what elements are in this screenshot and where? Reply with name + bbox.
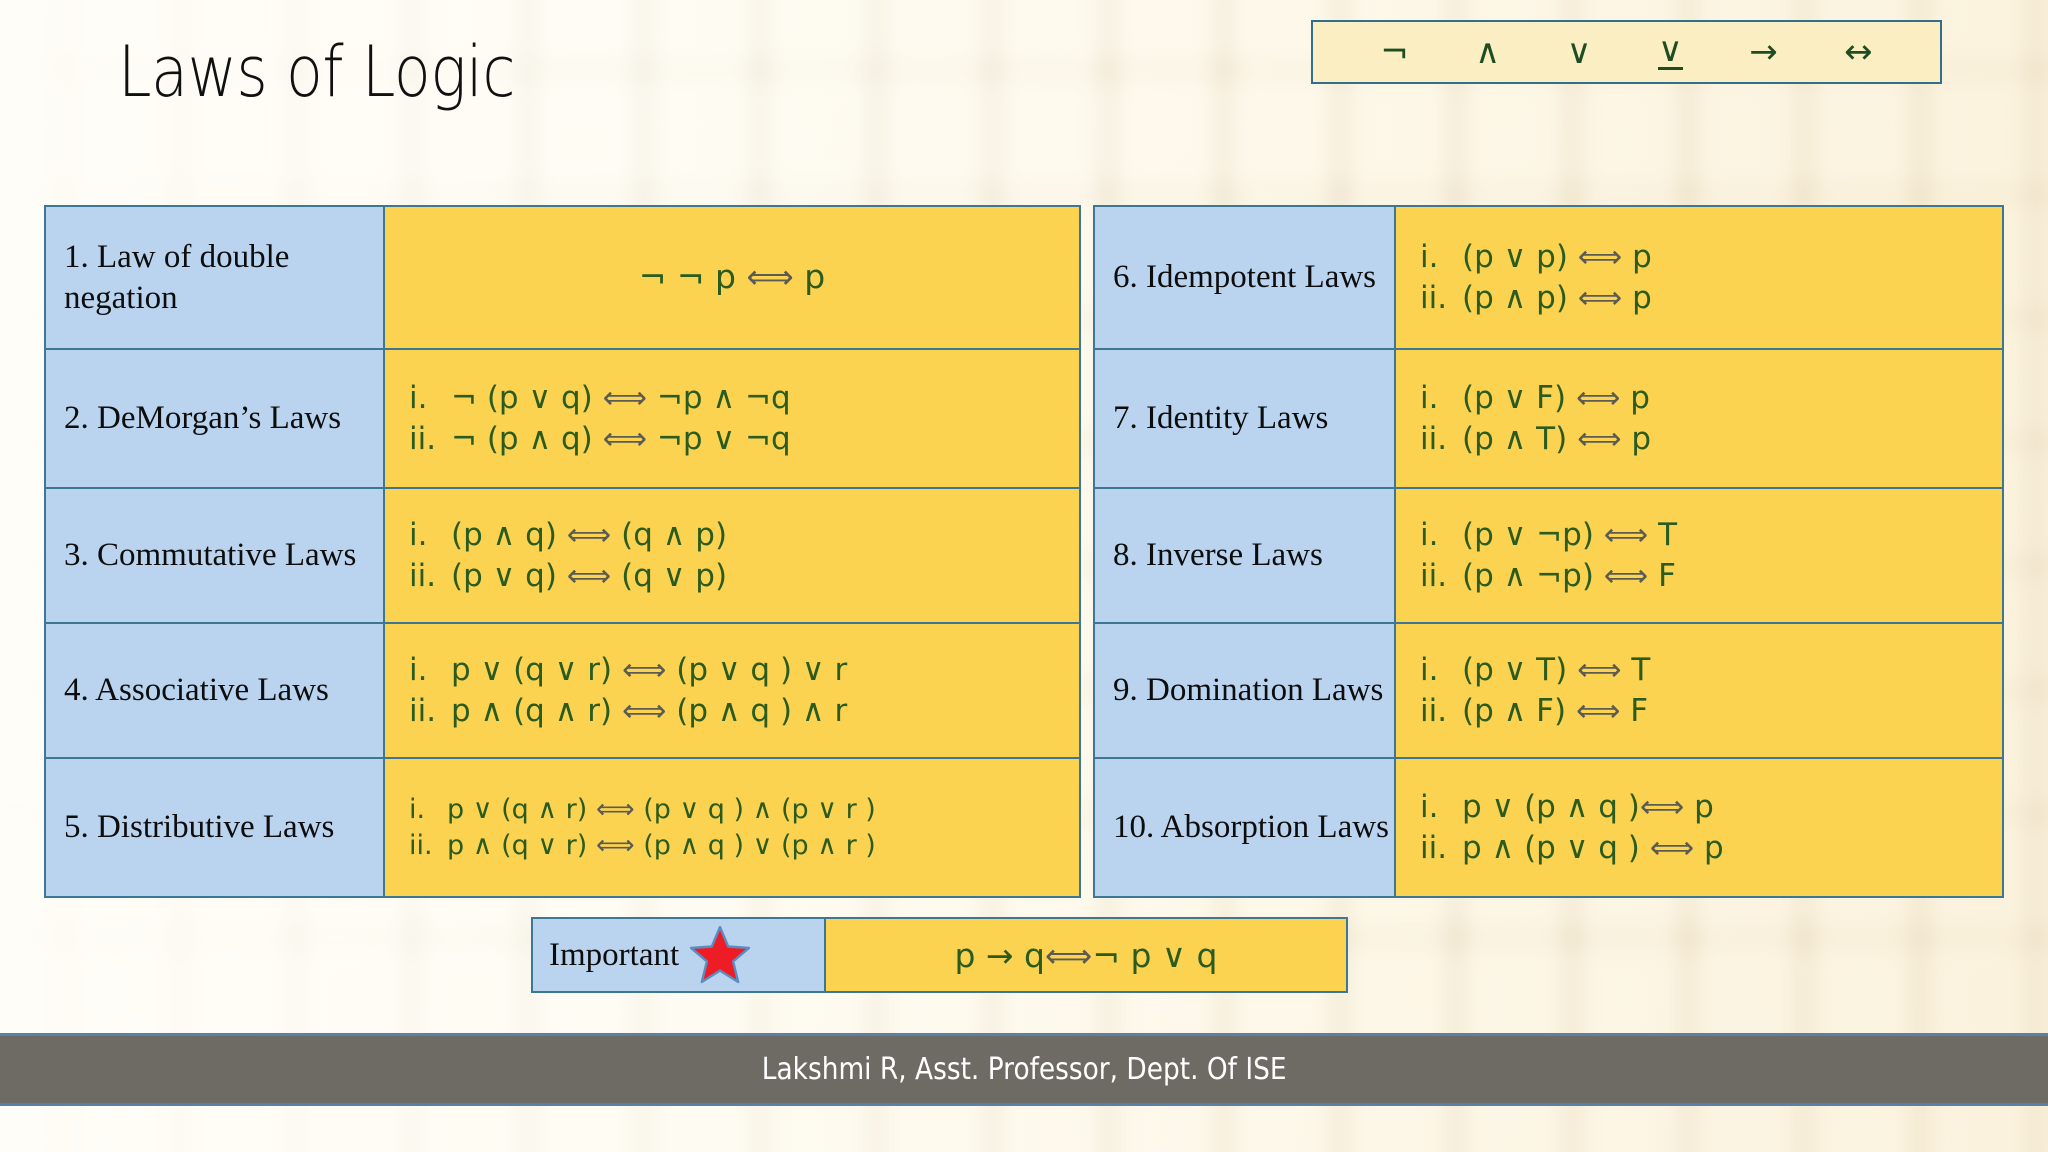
law-name-cell: 4. Associative Laws (46, 624, 385, 757)
important-label-cell: Important (533, 919, 826, 991)
formula-expression: p ∨ (q ∧ r) ⟺ (p ∨ q ) ∧ (p ∨ r ) (447, 792, 876, 827)
formula-line: ii.(p ∧ ¬p) ⟺ F (1420, 556, 2002, 596)
table-row: 4. Associative Lawsi.p ∨ (q ∨ r) ⟺ (p ∨ … (46, 622, 1079, 757)
formula-expression: (p ∧ F) ⟺ F (1462, 691, 1648, 731)
table-row: 7. Identity Lawsi.(p ∨ F) ⟺ pii.(p ∧ T) … (1095, 348, 2002, 487)
equivalence-icon: ⟺ (746, 257, 793, 296)
formula-index: ii. (409, 419, 451, 459)
law-name-cell: 9. Domination Laws (1095, 624, 1396, 757)
formula-line: ii.p ∧ (p ∨ q ) ⟺ p (1420, 828, 2002, 868)
formula-index: ii. (409, 691, 451, 731)
formula-expression: (p ∧ T) ⟺ p (1462, 419, 1651, 459)
slide-canvas: Laws of Logic ¬∧∨∨→↔ 1. Law of double ne… (0, 0, 2048, 1152)
formula-line: ¬ ¬ p ⟺ p (639, 256, 825, 299)
formula-line: ii.(p ∧ F) ⟺ F (1420, 691, 2002, 731)
star-icon (689, 925, 751, 985)
formula-expression: (p ∨ p) ⟺ p (1462, 237, 1652, 277)
formula-expression: (p ∨ T) ⟺ T (1462, 650, 1650, 690)
formula-index: i. (409, 515, 451, 555)
equivalence-icon: ⟺ (1650, 830, 1694, 866)
law-formula-cell: i.(p ∨ F) ⟺ pii.(p ∧ T) ⟺ p (1396, 350, 2002, 487)
formula-line: ii.p ∧ (q ∨ r) ⟺ (p ∧ q ) ∨ (p ∧ r ) (409, 828, 1079, 863)
law-name-cell: 6. Idempotent Laws (1095, 207, 1396, 348)
law-name-cell: 3. Commutative Laws (46, 489, 385, 622)
formula-index: i. (409, 792, 447, 827)
table-row: 3. Commutative Lawsi.(p ∧ q) ⟺ (q ∧ p)ii… (46, 487, 1079, 622)
laws-table-left: 1. Law of double negation¬ ¬ p ⟺ p2. DeM… (44, 205, 1081, 898)
equivalence-icon: ⟺ (622, 652, 666, 688)
law-formula-cell: i.p ∨ (q ∨ r) ⟺ (p ∨ q ) ∨ rii.p ∧ (q ∧ … (385, 624, 1079, 757)
laws-table-right: 6. Idempotent Lawsi.(p ∨ p) ⟺ pii.(p ∧ p… (1093, 205, 2004, 898)
formula-line: i.(p ∨ F) ⟺ p (1420, 378, 2002, 418)
formula-line: ii.(p ∧ p) ⟺ p (1420, 278, 2002, 318)
formula-line: i.(p ∧ q) ⟺ (q ∧ p) (409, 515, 1079, 555)
equivalence-icon: ⟺ (603, 421, 647, 457)
equivalence-icon: ⟺ (1640, 789, 1684, 825)
law-formula-cell: i.(p ∨ ¬p) ⟺ Tii.(p ∧ ¬p) ⟺ F (1396, 489, 2002, 622)
biconditional-icon: ↔ (1844, 35, 1873, 69)
formula-index: ii. (1420, 419, 1462, 459)
formula-line: i.¬ (p ∨ q) ⟺ ¬p ∧ ¬q (409, 378, 1079, 418)
formula-line: ii.(p ∨ q) ⟺ (q ∨ p) (409, 556, 1079, 596)
law-name-cell: 7. Identity Laws (1095, 350, 1396, 487)
formula-index: i. (1420, 515, 1462, 555)
important-label-text: Important (549, 937, 679, 974)
equivalence-icon: ⟺ (596, 830, 635, 861)
page-title: Laws of Logic (118, 36, 515, 110)
footer-bar: Lakshmi R, Asst. Professor, Dept. Of ISE (0, 1033, 2048, 1106)
table-row: 8. Inverse Lawsi.(p ∨ ¬p) ⟺ Tii.(p ∧ ¬p)… (1095, 487, 2002, 622)
important-callout: Important p → q ⟺ ¬ p ∨ q (531, 917, 1348, 993)
formula-expression: (p ∧ q) ⟺ (q ∧ p) (451, 515, 727, 555)
law-name-cell: 10. Absorption Laws (1095, 759, 1396, 896)
formula-expression: p ∧ (q ∧ r) ⟺ (p ∧ q ) ∧ r (451, 691, 847, 731)
law-formula-cell: i.(p ∨ p) ⟺ pii.(p ∧ p) ⟺ p (1396, 207, 2002, 348)
important-formula: p → q ⟺ ¬ p ∨ q (826, 919, 1346, 991)
formula-expression: ¬ (p ∧ q) ⟺ ¬p ∨ ¬q (451, 419, 791, 459)
formula-line: ii.(p ∧ T) ⟺ p (1420, 419, 2002, 459)
formula-line: i.p ∨ (q ∨ r) ⟺ (p ∨ q ) ∨ r (409, 650, 1079, 690)
formula-index: i. (1420, 378, 1462, 418)
table-row: 1. Law of double negation¬ ¬ p ⟺ p (46, 207, 1079, 348)
law-name-cell: 1. Law of double negation (46, 207, 385, 348)
equivalence-icon: ⟺ (1577, 652, 1621, 688)
formula-expression: (p ∨ F) ⟺ p (1462, 378, 1650, 418)
or-icon: ∨ (1567, 35, 1592, 69)
table-row: 10. Absorption Lawsi.p ∨ (p ∧ q )⟺ pii.p… (1095, 757, 2002, 896)
formula-index: i. (1420, 787, 1462, 827)
formula-index: i. (1420, 237, 1462, 277)
table-row: 5. Distributive Lawsi.p ∨ (q ∧ r) ⟺ (p ∨… (46, 757, 1079, 896)
formula-expression: p ∧ (q ∨ r) ⟺ (p ∧ q ) ∨ (p ∧ r ) (447, 828, 876, 863)
formula-expression: p ∧ (p ∨ q ) ⟺ p (1462, 828, 1724, 868)
formula-expression: ¬ (p ∨ q) ⟺ ¬p ∧ ¬q (451, 378, 791, 418)
formula-expression: (p ∧ p) ⟺ p (1462, 278, 1652, 318)
equivalence-icon: ⟺ (603, 380, 647, 416)
equivalence-icon: ⟺ (1576, 380, 1620, 416)
law-formula-cell: ¬ ¬ p ⟺ p (385, 207, 1079, 348)
equivalence-icon: ⟺ (567, 517, 611, 553)
table-row: 6. Idempotent Lawsi.(p ∨ p) ⟺ pii.(p ∧ p… (1095, 207, 2002, 348)
equivalence-icon: ⟺ (1604, 558, 1648, 594)
law-formula-cell: i.(p ∨ T) ⟺ Tii.(p ∧ F) ⟺ F (1396, 624, 2002, 757)
formula-index: i. (1420, 650, 1462, 690)
formula-line: i.p ∨ (p ∧ q )⟺ p (1420, 787, 2002, 827)
law-formula-cell: i.¬ (p ∨ q) ⟺ ¬p ∧ ¬qii.¬ (p ∧ q) ⟺ ¬p ∨… (385, 350, 1079, 487)
law-name-cell: 2. DeMorgan’s Laws (46, 350, 385, 487)
law-formula-cell: i.(p ∧ q) ⟺ (q ∧ p)ii.(p ∨ q) ⟺ (q ∨ p) (385, 489, 1079, 622)
formula-index: i. (409, 378, 451, 418)
implies-icon: → (1749, 35, 1778, 69)
not-icon: ¬ (1380, 35, 1409, 69)
formula-index: ii. (1420, 278, 1462, 318)
formula-expression: (p ∧ ¬p) ⟺ F (1462, 556, 1676, 596)
formula-line: i.p ∨ (q ∧ r) ⟺ (p ∨ q ) ∧ (p ∨ r ) (409, 792, 1079, 827)
formula-line: i.(p ∨ ¬p) ⟺ T (1420, 515, 2002, 555)
law-name-cell: 5. Distributive Laws (46, 759, 385, 896)
xor-icon: ∨ (1658, 34, 1683, 70)
table-row: 9. Domination Lawsi.(p ∨ T) ⟺ Tii.(p ∧ F… (1095, 622, 2002, 757)
law-formula-cell: i.p ∨ (p ∧ q )⟺ pii.p ∧ (p ∨ q ) ⟺ p (1396, 759, 2002, 896)
equivalence-icon: ⟺ (567, 558, 611, 594)
formula-index: ii. (409, 556, 451, 596)
equivalence-icon: ⟺ (596, 794, 635, 825)
formula-line: i.(p ∨ T) ⟺ T (1420, 650, 2002, 690)
formula-expression: (p ∨ ¬p) ⟺ T (1462, 515, 1677, 555)
equivalence-icon: ⟺ (1576, 693, 1620, 729)
equivalence-icon: ⟺ (1578, 280, 1622, 316)
equivalence-icon: ⟺ (1578, 239, 1622, 275)
formula-line: ii.¬ (p ∧ q) ⟺ ¬p ∨ ¬q (409, 419, 1079, 459)
law-formula-cell: i.p ∨ (q ∧ r) ⟺ (p ∨ q ) ∧ (p ∨ r )ii.p … (385, 759, 1079, 896)
equivalence-icon: ⟺ (622, 693, 666, 729)
formula-line: ii.p ∧ (q ∧ r) ⟺ (p ∧ q ) ∧ r (409, 691, 1079, 731)
equivalence-icon: ⟺ (1045, 936, 1092, 975)
formula-index: ii. (1420, 556, 1462, 596)
footer-text: Lakshmi R, Asst. Professor, Dept. Of ISE (762, 1052, 1287, 1087)
formula-expression: p ∨ (p ∧ q )⟺ p (1462, 787, 1714, 827)
table-row: 2. DeMorgan’s Lawsi.¬ (p ∨ q) ⟺ ¬p ∧ ¬qi… (46, 348, 1079, 487)
formula-index: ii. (409, 828, 447, 863)
formula-expression: ¬ ¬ p ⟺ p (639, 256, 825, 299)
formula-index: i. (409, 650, 451, 690)
formula-index: ii. (1420, 691, 1462, 731)
and-icon: ∧ (1475, 35, 1500, 69)
formula-line: i.(p ∨ p) ⟺ p (1420, 237, 2002, 277)
equivalence-icon: ⟺ (1604, 517, 1648, 553)
formula-expression: (p ∨ q) ⟺ (q ∨ p) (451, 556, 727, 596)
symbol-legend: ¬∧∨∨→↔ (1311, 20, 1942, 84)
law-name-cell: 8. Inverse Laws (1095, 489, 1396, 622)
formula-expression: p ∨ (q ∨ r) ⟺ (p ∨ q ) ∨ r (451, 650, 847, 690)
formula-index: ii. (1420, 828, 1462, 868)
equivalence-icon: ⟺ (1577, 421, 1621, 457)
